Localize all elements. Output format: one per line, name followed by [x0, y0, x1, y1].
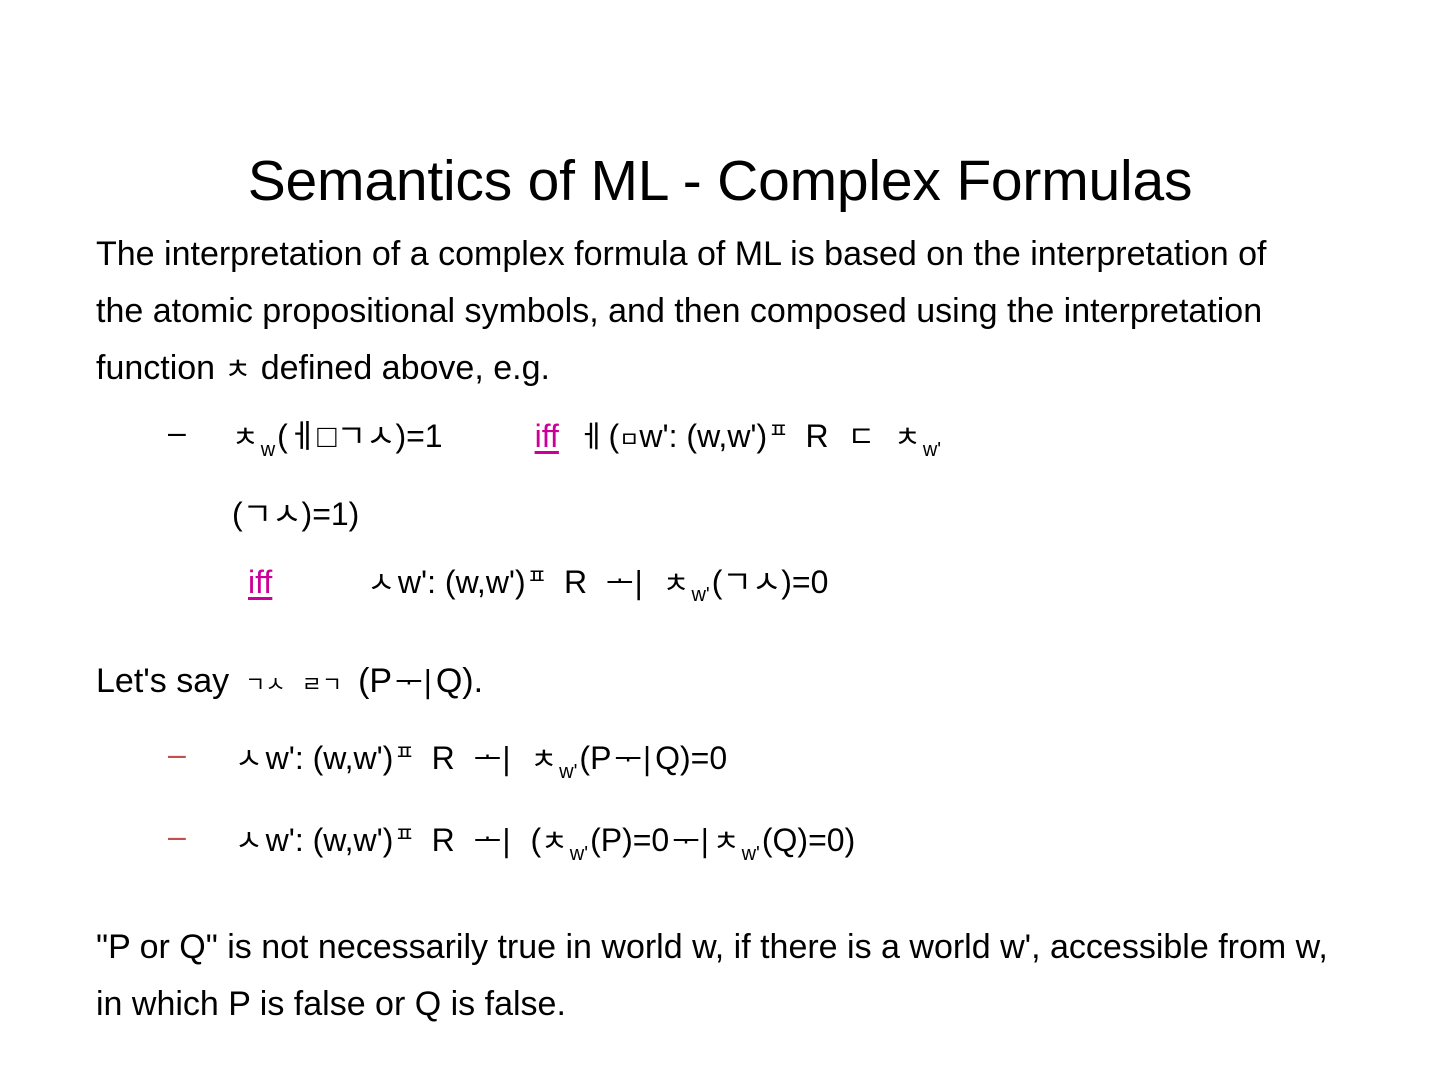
derivation-list: – ㅊw(ㅔ□ㄱㅅ)=1iffㅔ(ㅁw': (w,w')ㅍRㄷㅊw' (ㄱㅅ)=… — [96, 400, 1354, 627]
letssay-formula-close: Q). — [436, 662, 483, 700]
open-paren: ( — [609, 418, 620, 454]
and-symbol-icon: ᅩ| — [471, 824, 515, 859]
interpretation-symbol-icon: ㅊ — [894, 420, 921, 454]
accessibility-relation-label: R — [432, 822, 455, 858]
proposition-p-value: (P)=0 — [590, 822, 669, 858]
or-symbol-icon: ᅮ| — [669, 824, 713, 859]
interpretation-function-symbol-icon: ㅊ — [225, 352, 252, 386]
world-pair-text: w': (w,w') — [398, 564, 526, 600]
equivalence-symbol-icon: ㄹㄱ — [302, 673, 342, 698]
consequences-list: – ㅅw': (w,w')ㅍRᅩ|ㅊw'(Pᅮ|Q)=0 – ㅅw': (w,w… — [96, 722, 1354, 885]
derivation-line-2-text: (ㄱㅅ)=1) — [232, 496, 359, 532]
and-symbol-icon: ᅩ| — [471, 742, 515, 777]
page-title: Semantics of ML - Complex Formulas — [0, 150, 1440, 214]
membership-symbol-icon: ㅍ — [393, 741, 415, 766]
membership-symbol-icon: ㅍ — [767, 419, 789, 444]
accessibility-relation-label: R — [432, 740, 455, 776]
world-subscript-wprime: w' — [921, 439, 943, 461]
interpretation-symbol-icon: ㅊ — [530, 742, 557, 776]
world-subscript-wprime: w' — [689, 584, 711, 606]
letssay-formula-open: (P — [358, 662, 392, 700]
closing-paragraph: "P or Q" is not necessarily true in worl… — [96, 919, 1341, 1033]
world-subscript-wprime: w' — [568, 843, 590, 865]
consequence-row-1: – ㅅw': (w,w')ㅍRᅩ|ㅊw'(Pᅮ|Q)=0 — [96, 722, 1354, 804]
derivation-line-1: – ㅊw(ㅔ□ㄱㅅ)=1iffㅔ(ㅁw': (w,w')ㅍRㄷㅊw' — [96, 400, 1354, 482]
interpretation-symbol-icon: ㅊ — [713, 824, 740, 858]
exists-symbol-icon: ㅅ — [232, 824, 266, 859]
and-symbol-icon: ᅩ| — [603, 566, 647, 601]
intro-text-after: defined above, e.g. — [261, 349, 550, 387]
interpretation-symbol-icon: ㅊ — [541, 824, 568, 858]
tail-open: (P — [579, 740, 611, 776]
iff-connective-link[interactable]: iff — [248, 564, 272, 600]
forall-symbol-icon: ㅁ — [619, 428, 639, 453]
exists-symbol-icon: ㅅ — [364, 566, 398, 601]
world-pair-text: w': (w,w') — [266, 740, 394, 776]
interpretation-symbol-icon: ㅊ — [663, 566, 690, 600]
world-subscript-wprime: w' — [740, 843, 762, 865]
intro-paragraph: The interpretation of a complex formula … — [96, 226, 1321, 398]
world-subscript-w: w — [259, 439, 277, 461]
tail-close: Q)=0 — [655, 740, 727, 776]
implies-symbol-icon: ㄷ — [845, 420, 879, 455]
phi-symbol-icon: ㄱㅅ — [245, 673, 285, 698]
derivation-line-2: (ㄱㅅ)=1) — [96, 482, 1354, 546]
bullet-dash-marker: – — [168, 804, 194, 868]
exists-symbol-icon: ㅅ — [232, 742, 266, 777]
letssay-label: Let's say — [96, 662, 229, 700]
accessibility-relation-label: R — [564, 564, 587, 600]
derivation-line-3: iffㅅw': (w,w')ㅍRᅩ|ㅊw'(ㄱㅅ)=0 — [96, 546, 1354, 628]
slide-body: The interpretation of a complex formula … — [96, 226, 1354, 1033]
membership-symbol-icon: ㅍ — [526, 565, 548, 590]
consequence-row-2-body: ㅅw': (w,w')ㅍRᅩ|(ㅊw'(P)=0ᅮ|ㅊw'(Q)=0) — [232, 804, 855, 886]
slide-canvas: Semantics of ML - Complex Formulas The i… — [0, 0, 1440, 1080]
lhs-formula-body: (ㅔ□ㄱㅅ)=1 — [277, 418, 442, 454]
derivation-line-1-body: ㅊw(ㅔ□ㄱㅅ)=1iffㅔ(ㅁw': (w,w')ㅍRㄷㅊw' — [232, 400, 943, 482]
consequence-row-2: – ㅅw': (w,w')ㅍRᅩ|(ㅊw'(P)=0ᅮ|ㅊw'(Q)=0) — [96, 804, 1354, 886]
consequence-row-1-body: ㅅw': (w,w')ㅍRᅩ|ㅊw'(Pᅮ|Q)=0 — [232, 722, 727, 804]
letssay-paragraph: Let's sayㄱㅅㄹㄱ(Pᅮ|Q). — [96, 653, 1354, 714]
accessibility-relation-label: R — [805, 418, 828, 454]
world-subscript-wprime: w' — [557, 761, 579, 783]
or-symbol-icon: ᅮ| — [392, 665, 436, 700]
interpretation-symbol-icon: ㅊ — [232, 420, 259, 454]
bullet-dash-marker: – — [168, 722, 194, 786]
bullet-dash-marker: – — [168, 400, 194, 464]
membership-symbol-icon: ㅍ — [393, 823, 415, 848]
quantifier-symbol-icon: ㅔ — [575, 420, 609, 455]
proposition-q-value: (Q)=0) — [762, 822, 855, 858]
or-symbol-icon: ᅮ| — [611, 742, 655, 777]
derivation-line-3-tail: (ㄱㅅ)=0 — [712, 564, 829, 600]
rhs-world-pair-text: w': (w,w') — [639, 418, 767, 454]
open-paren: ( — [530, 822, 541, 858]
iff-connective-link[interactable]: iff — [535, 418, 559, 454]
world-pair-text: w': (w,w') — [266, 822, 394, 858]
